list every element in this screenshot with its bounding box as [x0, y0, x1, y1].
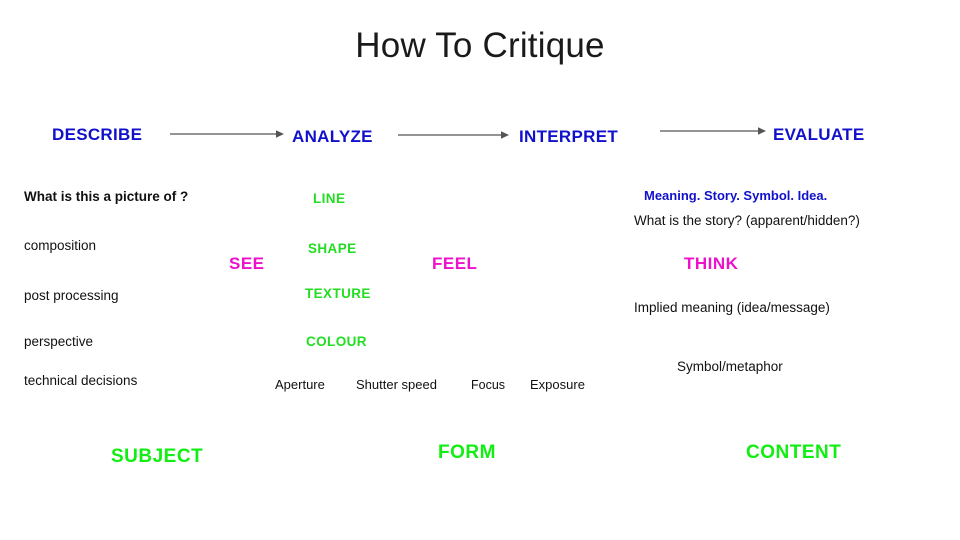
arrow-describe-to-analyze-icon	[170, 128, 286, 140]
verb-feel: FEEL	[432, 254, 477, 274]
analyze-term-exposure: Exposure	[530, 377, 585, 392]
analyze-term-shutter-speed: Shutter speed	[356, 377, 437, 392]
analyze-term-aperture: Aperture	[275, 377, 325, 392]
arrow-analyze-to-interpret-icon	[398, 129, 511, 141]
describe-item-composition: composition	[24, 238, 96, 253]
stage-heading-evaluate[interactable]: EVALUATE	[773, 125, 865, 145]
verb-think: THINK	[684, 254, 738, 274]
analyze-term-focus: Focus	[471, 378, 505, 392]
describe-heading: What is this a picture of ?	[24, 189, 188, 204]
slide-canvas: How To Critique DESCRIBE ANALYZE INTERPR…	[0, 0, 960, 540]
category-form: FORM	[438, 442, 496, 464]
describe-item-technical-decisions: technical decisions	[24, 373, 137, 388]
interpret-item-implied-meaning: Implied meaning (idea/message)	[634, 300, 830, 315]
describe-item-perspective: perspective	[24, 334, 93, 349]
analyze-element-line: LINE	[313, 191, 345, 206]
analyze-element-shape: SHAPE	[308, 241, 357, 256]
analyze-element-texture: TEXTURE	[305, 286, 371, 301]
page-title: How To Critique	[0, 26, 960, 66]
stage-heading-describe[interactable]: DESCRIBE	[52, 125, 142, 145]
stage-heading-analyze[interactable]: ANALYZE	[292, 127, 373, 147]
category-subject: SUBJECT	[111, 446, 203, 468]
stage-heading-interpret[interactable]: INTERPRET	[519, 127, 618, 147]
verb-see: SEE	[229, 254, 265, 274]
interpret-heading: Meaning. Story. Symbol. Idea.	[644, 188, 827, 203]
arrow-interpret-to-evaluate-icon	[660, 125, 768, 137]
analyze-element-colour: COLOUR	[306, 334, 367, 349]
interpret-item-symbol-metaphor: Symbol/metaphor	[677, 359, 783, 374]
interpret-question: What is the story? (apparent/hidden?)	[634, 213, 860, 228]
describe-item-post-processing: post processing	[24, 288, 119, 303]
category-content: CONTENT	[746, 442, 841, 464]
